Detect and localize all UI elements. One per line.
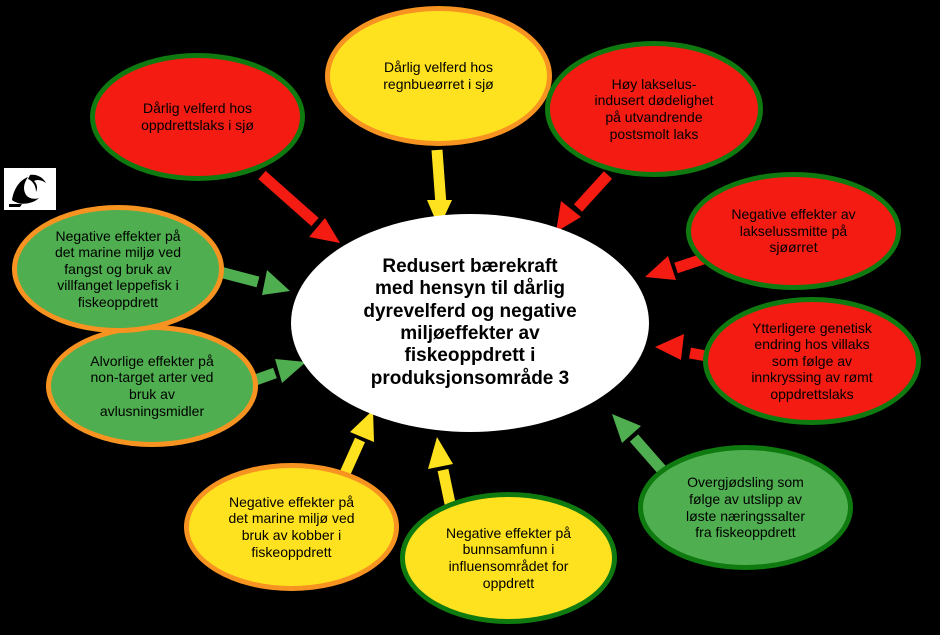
center-node-label: Redusert bærekraft med hensyn til dårlig… <box>363 256 576 390</box>
node-bunnsamfunn: Negative effekter på bunnsamfunn i influ… <box>400 492 617 624</box>
arrow-sjoorret <box>645 256 706 280</box>
node-leppefisk: Negative effekter på det marine miljø ve… <box>12 205 224 333</box>
arrow-lakselus-dodelighet <box>556 175 608 232</box>
arrow-overgjodsling <box>612 414 662 470</box>
node-kobber-label: Negative effekter på det marine miljø ve… <box>228 494 354 560</box>
node-overgjodsling: Overgjødsling som følge av utslipp av lø… <box>638 445 853 570</box>
node-darlig-velferd-oppdrettslaks: Dårlig velferd hos oppdrettslaks i sjø <box>90 53 305 181</box>
node-genetisk-endring-villaks-label: Ytterligere genetisk endring hos villaks… <box>751 320 872 403</box>
diagram-canvas: Redusert bærekraft med hensyn til dårlig… <box>0 0 940 635</box>
node-kobber: Negative effekter på det marine miljø ve… <box>184 463 399 591</box>
node-avlusningsmidler: Alvorlige effekter på non-target arter v… <box>46 325 258 447</box>
logo-fish-icon <box>6 170 54 208</box>
node-avlusningsmidler-label: Alvorlige effekter på non-target arter v… <box>90 353 213 419</box>
node-darlig-velferd-regnbueorret-label: Dårlig velferd hos regnbueørret i sjø <box>383 59 493 92</box>
arrow-oppdrettslaks <box>262 175 340 243</box>
node-leppefisk-label: Negative effekter på det marine miljø ve… <box>55 228 181 311</box>
node-lakselussmitte-sjoorret-label: Negative effekter av lakselussmitte på s… <box>731 206 855 256</box>
node-lakselussmitte-sjoorret: Negative effekter av lakselussmitte på s… <box>686 172 901 290</box>
arrow-leppefisk <box>220 270 290 295</box>
arrow-kobber <box>342 410 374 480</box>
node-darlig-velferd-oppdrettslaks-label: Dårlig velferd hos oppdrettslaks i sjø <box>141 100 254 133</box>
node-hoy-lakselus-dodelighet: Høy lakselus- indusert dødelighet på utv… <box>545 41 763 177</box>
node-bunnsamfunn-label: Negative effekter på bunnsamfunn i influ… <box>446 525 571 591</box>
center-node: Redusert bærekraft med hensyn til dårlig… <box>291 214 649 432</box>
havforskningsinstituttet-logo <box>4 168 56 210</box>
node-darlig-velferd-regnbueorret: Dårlig velferd hos regnbueørret i sjø <box>325 6 552 146</box>
node-overgjodsling-label: Overgjødsling som følge av utslipp av lø… <box>686 474 805 540</box>
node-hoy-lakselus-dodelighet-label: Høy lakselus- indusert dødelighet på utv… <box>594 76 713 142</box>
node-genetisk-endring-villaks: Ytterligere genetisk endring hos villaks… <box>703 297 921 425</box>
